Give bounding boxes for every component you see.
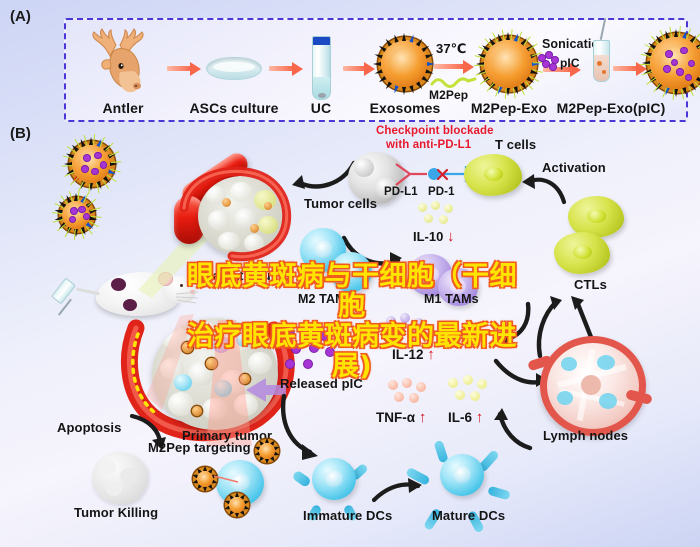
exosome-pic-cargo bbox=[664, 66, 670, 72]
process-arrow-3 bbox=[343, 64, 375, 73]
exosome-spike bbox=[416, 38, 424, 47]
label-pd-1: PD-1 bbox=[428, 186, 455, 198]
exosome-pic-cargo bbox=[84, 155, 90, 161]
petri-dish-icon bbox=[206, 57, 262, 80]
exosome-spike bbox=[506, 88, 510, 96]
exosome-spike bbox=[235, 492, 239, 497]
cytokine-tnfa: TNF-α ↑ bbox=[376, 409, 426, 426]
panel-a-container: 37℃ M2Pep Sonication pIC bbox=[64, 18, 688, 122]
exosome-spike bbox=[374, 69, 383, 75]
cytokine-il6: IL-6 ↑ bbox=[448, 409, 483, 426]
exosome-spike bbox=[258, 456, 264, 462]
label-lymph-nodes: Lymph nodes bbox=[543, 428, 628, 443]
exosome-spike bbox=[203, 466, 207, 471]
exosome-spike bbox=[378, 76, 387, 84]
cytokine-il12: IL-12 ↑ bbox=[392, 346, 435, 363]
label-t-cells: T cells bbox=[495, 137, 536, 152]
exosome-pic-cargo bbox=[82, 166, 88, 172]
exosome-spike bbox=[402, 33, 406, 41]
process-arrow-2 bbox=[269, 64, 303, 73]
targeting-link bbox=[212, 468, 252, 488]
cytokine-il6-trend: ↑ bbox=[476, 409, 484, 426]
cytokine-il10-trend: ↓ bbox=[447, 228, 455, 245]
process-arrow-6 bbox=[613, 64, 647, 73]
arrow-dc-maturation bbox=[372, 478, 424, 508]
exosome-spike bbox=[683, 87, 689, 96]
exosome-pic-cargo bbox=[95, 153, 101, 159]
exosome-spike bbox=[385, 38, 393, 47]
exosome-peptide-hair bbox=[93, 134, 96, 145]
label-m1-tams: M1 TAMs bbox=[424, 292, 479, 306]
vessel-outline-metastatic bbox=[176, 160, 296, 264]
cytokine-il12-name: IL-12 bbox=[392, 347, 424, 362]
lymph-node-icon bbox=[540, 336, 646, 436]
step-label-m2pep-exo-pic: M2Pep-Exo(pIC) bbox=[557, 100, 666, 116]
label-checkpoint-blockade: Checkpoint blockade bbox=[376, 125, 494, 137]
exosome-peptide-hair bbox=[670, 26, 673, 37]
m2pep-squiggle-icon bbox=[430, 75, 478, 89]
exosome-particle-1-icon bbox=[72, 144, 112, 184]
exosome-pic-icon bbox=[650, 36, 700, 90]
exosome-icon bbox=[381, 40, 429, 88]
exosome-peptide-hair bbox=[502, 29, 505, 40]
ctl-cell-2-icon bbox=[554, 232, 610, 274]
exosome-spike bbox=[203, 487, 207, 492]
cytokine-tnfa-trend: ↑ bbox=[419, 409, 427, 426]
arrow-maturedc-to-cytokines bbox=[490, 406, 538, 452]
step-label-uc: UC bbox=[311, 100, 331, 116]
m2-tam-cell-2-icon bbox=[330, 252, 372, 292]
arrow-pic-to-dc bbox=[278, 392, 338, 464]
apoptotic-cell-icon bbox=[92, 452, 148, 504]
process-arrow-4 bbox=[434, 62, 474, 71]
exosome-spike bbox=[244, 506, 250, 511]
label-metastatic-tumor: Metastatic tumor bbox=[190, 268, 296, 283]
exosome-spike bbox=[240, 510, 246, 516]
exosome-peptide-hair bbox=[679, 26, 682, 37]
arrow-activation bbox=[516, 168, 570, 210]
label-immature-dcs: Immature DCs bbox=[303, 508, 392, 523]
pic-label: pIC bbox=[560, 56, 580, 70]
exosome-spike bbox=[402, 87, 406, 95]
temperature-label: 37℃ bbox=[436, 41, 467, 57]
exosome-spike bbox=[196, 467, 202, 473]
exosome-spike bbox=[393, 85, 399, 94]
exosome-spike bbox=[192, 473, 198, 478]
cytokine-il10-name: IL-10 bbox=[413, 229, 443, 244]
exosome-spike bbox=[378, 44, 387, 52]
targeting-exosome-1-icon bbox=[258, 442, 276, 460]
panel-b-tag: (B) bbox=[10, 125, 31, 142]
deer-icon bbox=[80, 26, 166, 96]
panel-a-tag: (A) bbox=[10, 8, 31, 25]
t-cell-icon bbox=[464, 154, 522, 196]
label-apoptosis: Apoptosis bbox=[57, 420, 121, 435]
label-released-pic: Released pIC bbox=[280, 376, 363, 391]
exosome-spike bbox=[235, 513, 239, 518]
exosome-spike bbox=[228, 510, 234, 516]
exosome-peptide-icon bbox=[484, 39, 534, 89]
exosome-spike bbox=[374, 53, 383, 59]
cytokine-il10: IL-10 ↓ bbox=[413, 228, 454, 245]
process-arrow-1 bbox=[167, 64, 201, 73]
step-label-exosomes: Exosomes bbox=[370, 100, 441, 116]
exosome-pic-cargo bbox=[79, 207, 85, 213]
exosome-pic-cargo bbox=[686, 75, 692, 81]
syringe-icon bbox=[51, 278, 76, 305]
exosome-pic-cargo bbox=[92, 169, 98, 175]
cytokine-il12-trend: ↑ bbox=[427, 346, 435, 363]
exosome-peptide-hair bbox=[87, 199, 96, 207]
exosome-pic-cargo bbox=[677, 69, 683, 75]
exosome-spike bbox=[426, 53, 435, 59]
label-m2pep-targeting: M2Pep targeting bbox=[148, 440, 251, 455]
label-anti-pdl1: with anti-PD-L1 bbox=[386, 139, 471, 151]
exosome-spike bbox=[410, 85, 416, 94]
exosome-spike bbox=[224, 499, 230, 504]
exosome-spike bbox=[674, 89, 678, 97]
step-label-ascs: ASCs culture bbox=[189, 100, 278, 116]
label-mature-dcs: Mature DCs bbox=[432, 508, 505, 523]
label-tumor-cells: Tumor cells bbox=[304, 196, 377, 211]
step-label-antler: Antler bbox=[102, 100, 143, 116]
exosome-spike bbox=[265, 459, 269, 464]
cytokine-tnfa-name: TNF-α bbox=[376, 410, 415, 425]
exosome-spike bbox=[410, 34, 416, 43]
exosome-spike bbox=[373, 62, 381, 66]
arrow-m1-upstream bbox=[490, 300, 536, 348]
exosome-spike bbox=[265, 438, 269, 443]
exosome-spike bbox=[416, 81, 424, 90]
step-label-m2pep-exo: M2Pep-Exo bbox=[471, 100, 547, 116]
cytokine-il6-name: IL-6 bbox=[448, 410, 472, 425]
exosome-pic-cargo bbox=[71, 208, 77, 214]
centrifuge-tube-icon bbox=[312, 36, 331, 100]
exosome-pic-cargo bbox=[84, 214, 90, 220]
label-tumor-killing: Tumor Killing bbox=[74, 505, 158, 520]
label-pd-l1: PD-L1 bbox=[384, 186, 418, 198]
exosome-spike bbox=[393, 34, 399, 43]
exosome-particle-2-icon bbox=[62, 200, 92, 230]
exosome-peptide-hair bbox=[62, 165, 73, 167]
sonication-tube-icon bbox=[593, 40, 610, 82]
exosome-spike bbox=[270, 456, 276, 462]
exosome-spike bbox=[385, 81, 393, 90]
exosome-spike bbox=[422, 44, 431, 52]
targeting-exosome-3-icon bbox=[228, 496, 246, 514]
exosome-spike bbox=[196, 484, 202, 490]
exosome-pic-cargo bbox=[666, 51, 672, 57]
figure-canvas: (A) bbox=[0, 0, 700, 547]
